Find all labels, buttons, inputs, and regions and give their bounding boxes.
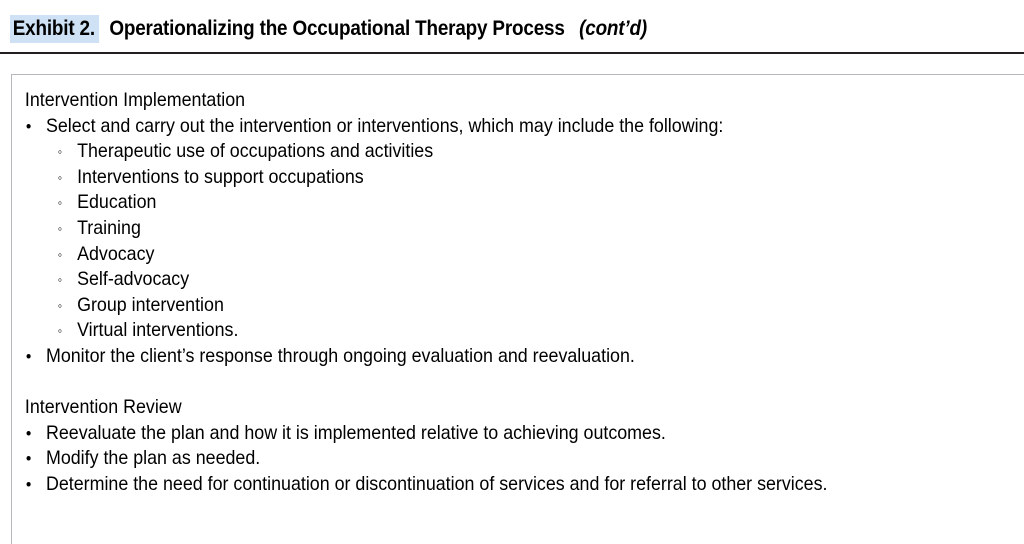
subbullet-item: ◦ Interventions to support occupations <box>24 165 1024 191</box>
subbullet-text: Training <box>77 217 141 239</box>
section-intervention-review: Intervention Review • Reevaluate the pla… <box>24 395 1024 497</box>
subbullet-item: ◦ Group intervention <box>24 293 1024 319</box>
header-divider-rule <box>0 52 1024 54</box>
exhibit-header-line: Exhibit 2.Operationalizing the Occupatio… <box>10 15 647 43</box>
bullet-icon: • <box>26 421 31 447</box>
bullet-text: Modify the plan as needed. <box>46 447 260 469</box>
bullet-item: • Monitor the client’s response through … <box>24 344 1024 370</box>
subbullet-text: Therapeutic use of occupations and activ… <box>77 140 433 162</box>
subbullet-icon: ◦ <box>58 190 62 216</box>
subbullet-icon: ◦ <box>58 267 62 293</box>
subbullet-text: Virtual interventions. <box>77 319 238 341</box>
bullet-list: • Monitor the client’s response through … <box>24 344 1024 370</box>
bullet-item: • Reevaluate the plan and how it is impl… <box>24 421 1024 447</box>
section-heading: Intervention Implementation <box>24 88 1024 114</box>
subbullet-text: Advocacy <box>77 243 154 265</box>
bullet-text: Monitor the client’s response through on… <box>46 345 635 367</box>
bullet-list: • Reevaluate the plan and how it is impl… <box>24 421 1024 498</box>
bullet-text: Determine the need for continuation or d… <box>46 473 828 495</box>
bullet-icon: • <box>26 446 31 472</box>
subbullet-icon: ◦ <box>58 318 62 344</box>
subbullet-item: ◦ Education <box>24 190 1024 216</box>
exhibit-number-label: Exhibit 2. <box>10 15 99 43</box>
bullet-item: • Modify the plan as needed. <box>24 446 1024 472</box>
subbullet-icon: ◦ <box>58 293 62 319</box>
bullet-text: Reevaluate the plan and how it is implem… <box>46 422 666 444</box>
subbullet-item: ◦ Therapeutic use of occupations and act… <box>24 139 1024 165</box>
section-heading: Intervention Review <box>24 395 1024 421</box>
bullet-icon: • <box>26 344 31 370</box>
bullet-text: Select and carry out the intervention or… <box>46 115 723 137</box>
subbullet-text: Group intervention <box>77 294 224 316</box>
bullet-list: • Select and carry out the intervention … <box>24 114 1024 140</box>
subbullet-text: Interventions to support occupations <box>77 166 364 188</box>
subbullet-icon: ◦ <box>58 216 62 242</box>
exhibit-content: Intervention Implementation • Select and… <box>24 88 1024 498</box>
bullet-item: • Select and carry out the intervention … <box>24 114 1024 140</box>
bullet-icon: • <box>26 472 31 498</box>
exhibit-continued-label: (cont’d) <box>579 17 647 40</box>
subbullet-item: ◦ Virtual interventions. <box>24 318 1024 344</box>
subbullet-item: ◦ Training <box>24 216 1024 242</box>
exhibit-content-box: Intervention Implementation • Select and… <box>11 74 1024 544</box>
subbullet-item: ◦ Advocacy <box>24 242 1024 268</box>
subbullet-icon: ◦ <box>58 139 62 165</box>
subbullet-text: Self-advocacy <box>77 268 189 290</box>
bullet-item: • Determine the need for continuation or… <box>24 472 1024 498</box>
subbullet-text: Education <box>77 191 156 213</box>
section-intervention-implementation: Intervention Implementation • Select and… <box>24 88 1024 370</box>
subbullet-icon: ◦ <box>58 165 62 191</box>
subbullet-icon: ◦ <box>58 242 62 268</box>
exhibit-header: Exhibit 2.Operationalizing the Occupatio… <box>0 0 1024 53</box>
exhibit-title: Operationalizing the Occupational Therap… <box>109 17 564 40</box>
subbullet-list: ◦ Therapeutic use of occupations and act… <box>24 139 1024 344</box>
section-spacer <box>24 370 1024 396</box>
subbullet-item: ◦ Self-advocacy <box>24 267 1024 293</box>
bullet-icon: • <box>26 114 31 140</box>
